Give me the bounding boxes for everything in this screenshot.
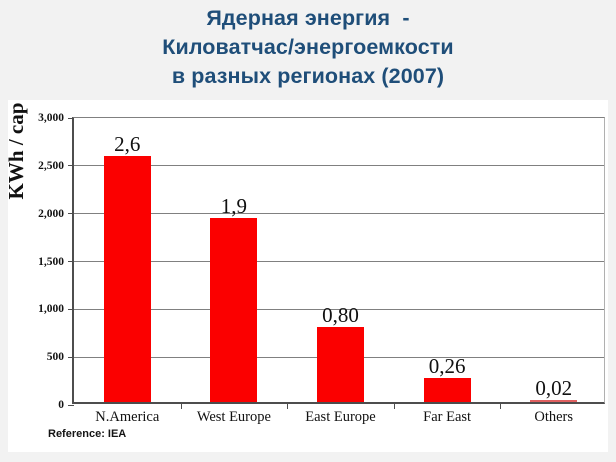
bar-value-label: 2,6	[114, 132, 140, 157]
y-axis-label: 1,500	[38, 256, 64, 268]
y-axis-tick	[68, 165, 74, 166]
y-axis-tick	[68, 261, 74, 262]
plot-area: 05001,0001,5002,0002,5003,0002,6N.Americ…	[72, 117, 605, 404]
x-axis-category-label: East Europe	[305, 409, 375, 426]
y-axis-title: KWh / cap	[4, 76, 30, 226]
y-axis-label: 2,500	[38, 160, 64, 172]
title-line-1: Ядерная энергия -	[0, 4, 616, 33]
y-axis-label: 2,000	[38, 208, 64, 220]
gridline	[74, 165, 604, 166]
bar-value-label: 0,02	[535, 376, 572, 401]
x-axis-tick	[287, 403, 288, 409]
gridline	[74, 261, 604, 262]
y-axis-tick	[68, 213, 74, 214]
title-line-2: Киловатчас/энергоемкости	[0, 33, 616, 62]
bar[interactable]	[317, 327, 364, 402]
y-axis-tick	[68, 405, 74, 406]
bar-value-label: 0,26	[429, 354, 466, 379]
x-axis-tick	[500, 403, 501, 409]
title-line-3: в разных регионах (2007)	[0, 62, 616, 91]
x-axis-category-label: Others	[534, 409, 573, 426]
y-axis-label: 0	[58, 399, 64, 411]
bar-value-label: 0,80	[322, 303, 359, 328]
y-axis-tick	[68, 357, 74, 358]
bar[interactable]	[104, 156, 151, 402]
x-axis-category-label: N.America	[95, 409, 159, 426]
chart-panel: KWh / cap 05001,0001,5002,0002,5003,0002…	[8, 100, 608, 452]
bar[interactable]	[210, 218, 257, 402]
x-axis-category-label: West Europe	[197, 409, 271, 426]
y-axis-tick	[68, 118, 74, 119]
bar-value-label: 1,9	[221, 194, 247, 219]
y-axis-tick	[68, 309, 74, 310]
x-axis-tick	[394, 403, 395, 409]
x-axis-tick	[181, 403, 182, 409]
gridline	[74, 213, 604, 214]
y-axis-label: 3,000	[38, 112, 64, 124]
reference-note: Reference: IEA	[48, 428, 126, 440]
y-axis-label: 500	[47, 351, 64, 363]
bar[interactable]	[424, 378, 471, 402]
y-axis-label: 1,000	[38, 303, 64, 315]
x-axis-category-label: Far East	[423, 409, 471, 426]
page-title: Ядерная энергия - Киловатчас/энергоемкос…	[0, 4, 616, 91]
